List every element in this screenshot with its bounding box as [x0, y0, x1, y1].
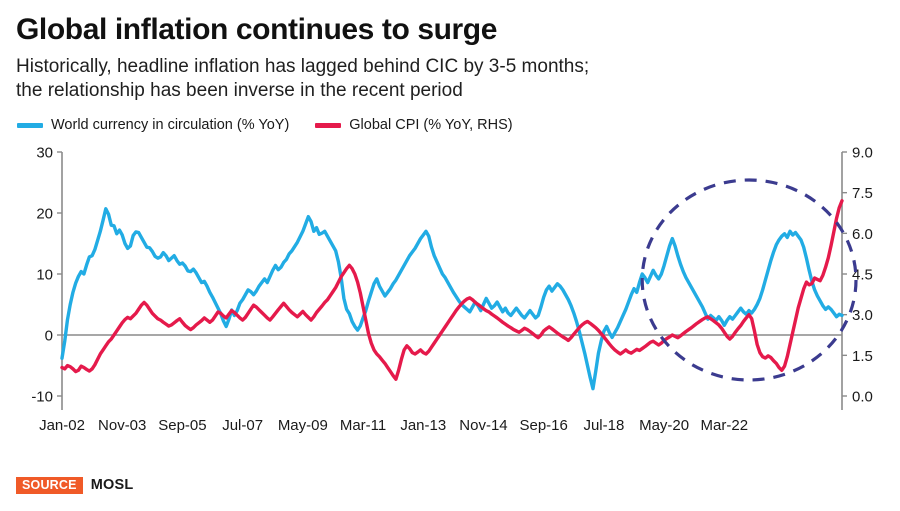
chart-area: -100102030 0.01.53.04.56.07.59.0 Jan-02N…	[16, 140, 884, 440]
x-tick-label: Mar-22	[701, 417, 749, 434]
right-tick-label: 9.0	[852, 145, 873, 162]
chart-legend: World currency in circulation (% YoY) Gl…	[17, 116, 884, 134]
chart-page: Global inflation continues to surge Hist…	[0, 14, 900, 511]
legend-item-cic[interactable]: World currency in circulation (% YoY)	[17, 117, 289, 133]
x-tick-label: Nov-14	[459, 417, 507, 434]
x-tick-label: Jul-07	[222, 417, 263, 434]
x-tick-label: Nov-03	[98, 417, 146, 434]
x-tick-label: Jan-02	[39, 417, 85, 434]
right-tick-label: 6.0	[852, 226, 873, 243]
series-line-cic	[62, 209, 842, 389]
legend-item-cpi[interactable]: Global CPI (% YoY, RHS)	[315, 117, 512, 133]
source-name: MOSL	[91, 477, 134, 493]
x-tick-label: Mar-11	[340, 417, 386, 434]
right-tick-label: 7.5	[852, 185, 873, 202]
right-axis-ticks: 0.01.53.04.56.07.59.0	[842, 145, 873, 406]
left-axis-ticks: -100102030	[31, 145, 62, 406]
right-tick-label: 0.0	[852, 389, 873, 406]
subtitle-line-1: Historically, headline inflation has lag…	[16, 55, 756, 79]
x-tick-label: May-20	[639, 417, 689, 434]
source-footer: SOURCE MOSL	[16, 477, 133, 495]
right-tick-label: 1.5	[852, 348, 873, 365]
left-tick-label: -10	[31, 389, 53, 406]
left-tick-label: 20	[36, 206, 53, 223]
subtitle-line-2: the relationship has been inverse in the…	[16, 79, 756, 103]
source-badge: SOURCE	[16, 477, 83, 495]
page-title: Global inflation continues to surge	[16, 14, 884, 46]
right-tick-label: 3.0	[852, 307, 873, 324]
legend-swatch-cic	[17, 123, 43, 128]
x-tick-label: May-09	[278, 417, 328, 434]
left-tick-label: 0	[45, 328, 53, 345]
x-tick-label: Sep-05	[158, 417, 206, 434]
legend-swatch-cpi	[315, 123, 341, 128]
x-tick-label: Sep-16	[519, 417, 567, 434]
left-tick-label: 10	[36, 267, 53, 284]
highlight-ellipse-annotation	[642, 180, 856, 380]
x-axis-ticks: Jan-02Nov-03Sep-05Jul-07May-09Mar-11Jan-…	[39, 417, 748, 434]
line-chart: -100102030 0.01.53.04.56.07.59.0 Jan-02N…	[16, 140, 884, 440]
left-tick-label: 30	[36, 145, 53, 162]
legend-label-cic: World currency in circulation (% YoY)	[51, 117, 289, 133]
legend-label-cpi: Global CPI (% YoY, RHS)	[349, 117, 512, 133]
x-tick-label: Jul-18	[583, 417, 624, 434]
x-tick-label: Jan-13	[400, 417, 446, 434]
page-subtitle: Historically, headline inflation has lag…	[16, 55, 756, 104]
